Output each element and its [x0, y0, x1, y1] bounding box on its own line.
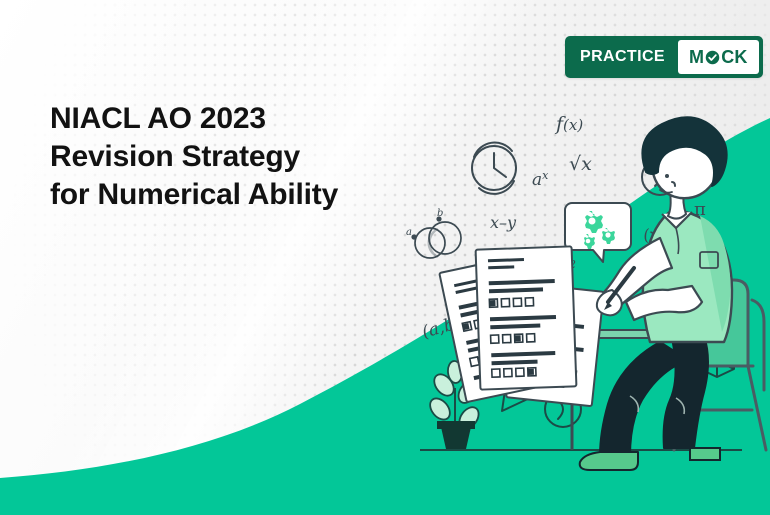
x-minus-y-symbol: x–y [490, 213, 517, 232]
page-title: NIACL AO 2023 Revision Strategy for Nume… [50, 100, 450, 213]
exam-paper-1 [476, 246, 577, 389]
title-line-3: for Numerical Ability [50, 176, 450, 214]
banner-image: f(x) ax √x π x–y x2 (x,y) (a,b) [0, 0, 770, 515]
ax-symbol: ax [532, 169, 549, 190]
clock-icon [472, 143, 516, 194]
check-circle-icon [705, 50, 720, 65]
student-figure [580, 117, 732, 470]
sqrt-x-symbol: √x [569, 153, 592, 175]
logo-mock-pre: M [689, 47, 704, 68]
gears-speech-bubble-icon [565, 203, 631, 262]
logo-mock-text: M CK [678, 40, 759, 74]
logo-practice-text: PRACTICE [567, 38, 676, 76]
logo-mock-post: CK [721, 47, 747, 68]
venn-diagram-icon [411, 216, 461, 258]
fx-symbol: f(x) [554, 113, 583, 135]
title-line-1: NIACL AO 2023 [50, 100, 450, 138]
venn-label-a: a [406, 227, 412, 238]
practicemock-logo[interactable]: PRACTICE M CK [565, 36, 763, 78]
title-line-2: Revision Strategy [50, 138, 450, 176]
